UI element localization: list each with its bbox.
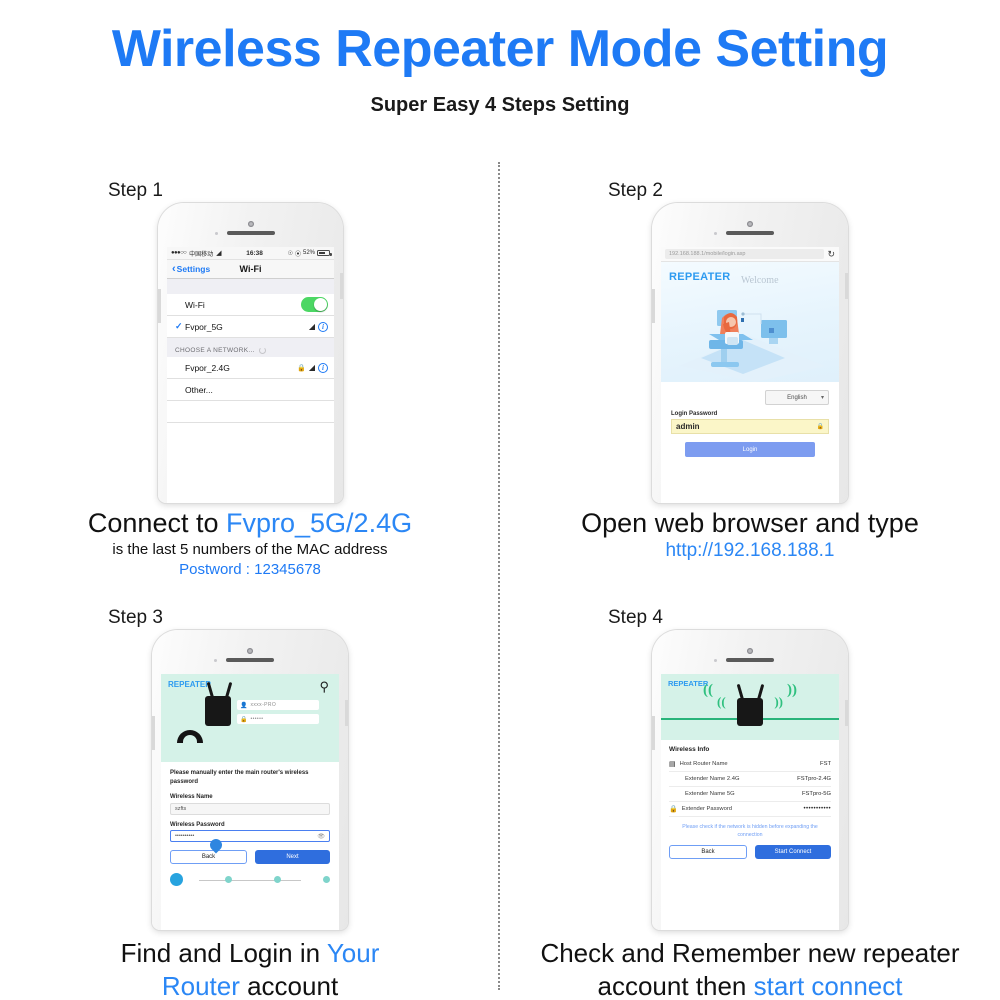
phone-screen-step3: REPEATER ⚲ 👤 xxxx-PRO 🔒 •••••• [161,674,339,930]
eye-icon[interactable]: 👁 [317,833,325,840]
lock-icon: 🔒 [669,805,678,813]
row-label: Fvpor_2.4G [185,363,297,373]
password-value: admin [676,422,700,431]
camera-icon [247,648,253,654]
sensor-icon [214,659,217,662]
row-label: Wi-Fi [185,300,301,310]
clock-label: 16:38 [225,250,285,257]
table-row: ▤ Host Router Name FST [669,757,831,772]
step-1-caption: Connect to Fvpro_5G/2.4G is the last 5 n… [0,508,500,579]
gear-icon [177,730,203,743]
volume-button [158,289,161,323]
step-2-caption: Open web browser and type http://192.168… [500,508,1000,562]
signal-wave-right-outer-icon: )) [787,682,797,699]
isometric-illustration [661,288,839,382]
chevron-down-icon: ▾ [821,394,824,401]
progress-dot-3[interactable] [274,876,281,883]
instruction-note: Please manually enter the main router's … [170,769,330,787]
step-4-cell: Step 4 REPEATER (( (( )) )) [500,592,1000,1000]
sensor-icon [714,232,717,235]
step-1-label: Step 1 [108,180,163,202]
section-header-label: CHOOSE A NETWORK... [175,347,255,354]
wizard-form: Please manually enter the main router's … [161,762,339,886]
caption-line-2: is the last 5 numbers of the MAC address [0,540,500,560]
router-icon: ▤ [669,760,676,768]
wireless-info-table: Wireless Info ▤ Host Router Name FST Ext… [661,740,839,859]
settings-row-filler [167,401,334,423]
step-2-cell: Step 2 192.168.188.1/mobile/login.asp ↻ … [500,165,1000,580]
row-key: 🔒 Extender Password [669,805,799,813]
wifi-icon: ◢ [309,322,315,331]
row-key-label: Extender Name 5G [669,791,735,797]
row-key: Extender Name 2.4G [669,776,793,782]
settings-gap [167,279,334,294]
row-tail: ◢ i [309,322,328,332]
speaker-grill [726,231,774,235]
settings-row-other[interactable]: Other... [167,379,334,401]
infographic-page: Wireless Repeater Mode Setting Super Eas… [0,0,1000,1000]
camera-icon [747,221,753,227]
username-field[interactable]: 👤 xxxx-PRO [237,700,319,710]
password-value: •••••• [250,716,263,722]
step-3-label: Step 3 [108,607,163,629]
battery-percent: 52% [303,250,315,256]
progress-dot-4[interactable] [323,876,330,883]
back-button[interactable]: Back [669,845,747,859]
page-title: Wireless Repeater Mode Setting [0,22,1000,77]
signal-wave-left-inner-icon: (( [717,694,726,710]
login-form: English ▾ Login Password admin 🔒 Login [661,382,839,457]
login-hero: REPEATER Welcome [661,262,839,382]
power-button [845,700,848,726]
back-button[interactable]: Back [170,850,247,864]
table-row: Extender Name 2.4G FSTpro-2.4G [669,772,831,787]
progress-indicator [170,873,330,886]
row-key-label: Extender Password [682,806,732,812]
lock-icon: 🔒 [240,716,247,723]
caption-black-2: account [240,971,338,1000]
speaker-grill [227,231,275,235]
caption-black: account then [598,971,754,1000]
power-button [845,273,848,299]
language-select-wrap: English ▾ [671,390,829,405]
user-icon: 👤 [240,702,247,709]
wireless-name-value: szfts [175,806,186,812]
caption-black: Connect to [88,508,226,538]
info-icon[interactable]: i [318,322,328,332]
wireless-password-label: Wireless Password [170,822,330,828]
row-key: Extender Name 5G [669,791,798,797]
login-button[interactable]: Login [685,442,815,457]
table-row: Extender Name 5G FSTpro-5G [669,787,831,802]
caption-blue: start connect [754,971,903,1000]
lock-icon: 🔒 [297,364,306,372]
caption-line-1: Check and Remember new repeater [500,937,1000,970]
wireless-password-value: •••••••••• [175,833,194,839]
step-1-cell: Step 1 ●●●○○ 中国移动 ◢ 16:38 ☉ ⦿ 52% [0,165,500,580]
caption-line-1: Open web browser and type [500,508,1000,539]
row-key: ▤ Host Router Name [669,760,816,768]
next-button[interactable]: Next [255,850,330,864]
loading-spinner-icon [259,347,266,354]
step-4-label: Step 4 [608,607,663,629]
wireless-password-input[interactable]: •••••••••• 👁 [170,830,330,842]
speaker-grill [226,658,274,662]
step-3-cell: Step 3 REPEATER ⚲ 👤 xxxx-PRO [0,592,500,1000]
table-row: 🔒 Extender Password ••••••••••• [669,802,831,817]
wireless-name-input[interactable]: szfts [170,803,330,815]
volume-button [652,716,655,750]
caption-black: Find and Login in [121,938,327,968]
page-subtitle: Super Easy 4 Steps Setting [0,94,1000,117]
lock-rotate-icon: ⦿ [295,249,301,258]
password-input[interactable]: admin 🔒 [671,419,829,434]
key-icon: ⚲ [319,679,329,695]
info-icon[interactable]: i [318,363,328,373]
speaker-grill [726,658,774,662]
camera-icon [248,221,254,227]
language-value: English [787,395,807,401]
sensor-icon [215,232,218,235]
settings-row-network-24g[interactable]: Fvpor_2.4G 🔒 ◢ i [167,357,334,379]
caption-line-3: Postword : 12345678 [0,560,500,580]
progress-line [199,880,301,882]
warning-text: Please check if the network is hidden be… [671,823,829,839]
power-button [345,700,348,726]
reload-icon[interactable]: ↻ [827,250,835,259]
step-2-label: Step 2 [608,180,663,202]
browser-bar: 192.168.188.1/mobile/login.asp ↻ [661,247,839,262]
repeater-device-icon [205,696,231,726]
row-key-label: Host Router Name [680,761,728,767]
repeater-device-icon [737,698,763,726]
welcome-label: Welcome [741,275,779,286]
signal-dots-icon: ●●●○○ [171,250,186,256]
caption-url: http://192.168.188.1 [500,540,1000,562]
row-label: Other... [185,385,328,395]
section-header: CHOOSE A NETWORK... [167,338,334,357]
start-connect-button[interactable]: Start Connect [755,845,831,859]
step-3-caption: Find and Login in Your Router account [0,937,500,1000]
phone-screen-step4: REPEATER (( (( )) )) Wireless Info ▤ [661,674,839,930]
wifi-icon: ◢ [216,249,221,257]
url-input[interactable]: 192.168.188.1/mobile/login.asp [665,249,824,259]
brand-label: REPEATER [168,680,211,689]
power-button [340,273,343,299]
ios-nav-bar: ‹ Settings Wi-Fi [167,260,334,279]
progress-dot-2[interactable] [225,876,232,883]
row-label: Fvpor_5G [185,322,309,332]
language-select[interactable]: English ▾ [765,390,829,405]
username-value: xxxx-PRO [250,702,276,708]
phone-screen-step1: ●●●○○ 中国移动 ◢ 16:38 ☉ ⦿ 52% ‹ Settings [167,247,334,503]
wifi-icon: ◢ [309,363,315,372]
signal-wave-right-inner-icon: )) [774,694,783,710]
camera-icon [747,648,753,654]
caption-line-1: Connect to Fvpro_5G/2.4G [0,508,500,538]
step-4-caption: Check and Remember new repeater account … [500,937,1000,1000]
phone-mockup-step2: 192.168.188.1/mobile/login.asp ↻ REPEATE… [652,203,848,503]
lock-icon: 🔒 [817,423,824,430]
caption-blue-2: Router [162,971,240,1000]
status-right-group: ☉ ⦿ 52% [288,249,330,258]
row-key-label: Extender Name 2.4G [669,776,739,782]
signal-wave-left-outer-icon: (( [703,682,713,699]
volume-button [652,289,655,323]
wizard-buttons: Back Next [170,850,330,864]
phone-mockup-step4: REPEATER (( (( )) )) Wireless Info ▤ [652,630,848,930]
ios-status-bar: ●●●○○ 中国移动 ◢ 16:38 ☉ ⦿ 52% [167,247,334,260]
row-value: FSTpro-2.4G [797,776,831,782]
caption-line-2: account then start connect [500,970,1000,1000]
sensor-icon [714,659,717,662]
phone-screen-step2: 192.168.188.1/mobile/login.asp ↻ REPEATE… [661,247,839,503]
wifi-toggle[interactable] [301,297,328,312]
carrier-label: 中国移动 [189,249,213,258]
phone-mockup-step3: REPEATER ⚲ 👤 xxxx-PRO 🔒 •••••• [152,630,348,930]
nav-title: Wi-Fi [167,264,334,274]
brand-label: REPEATER [669,271,730,283]
password-label: Login Password [671,411,829,417]
alarm-icon: ☉ [288,250,293,257]
info-hero: REPEATER (( (( )) )) [661,674,839,740]
caption-line-2: Router account [0,970,500,1000]
caption-blue: Your [327,938,380,968]
caption-blue: Fvpro_5G/2.4G [226,508,412,538]
password-field[interactable]: 🔒 •••••• [237,714,319,724]
section-title: Wireless Info [669,746,831,753]
caption-line-1: Find and Login in Your [0,937,500,970]
settings-row-network-connected[interactable]: ✓ Fvpor_5G ◢ i [167,316,334,338]
settings-row-wifi-toggle[interactable]: Wi-Fi [167,294,334,316]
phone-mockup-step1: ●●●○○ 中国移动 ◢ 16:38 ☉ ⦿ 52% ‹ Settings [158,203,343,503]
info-buttons: Back Start Connect [669,845,831,859]
battery-icon [317,250,330,256]
volume-button [152,716,155,750]
wireless-name-label: Wireless Name [170,794,330,800]
wizard-hero: REPEATER ⚲ 👤 xxxx-PRO 🔒 •••••• [161,674,339,762]
row-value: FSTpro-5G [802,791,831,797]
check-icon: ✓ [175,321,185,332]
row-value: FST [820,761,831,767]
row-tail: 🔒 ◢ i [297,363,328,373]
row-value: ••••••••••• [803,806,831,812]
progress-dot-active[interactable] [170,873,183,886]
